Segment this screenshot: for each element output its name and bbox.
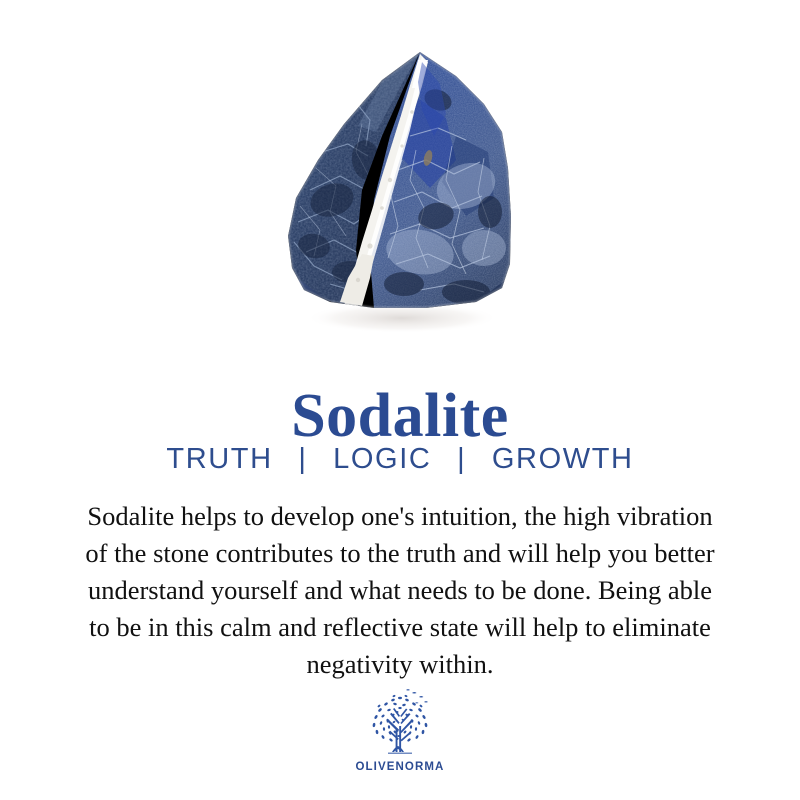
keyword-separator: | [441, 440, 482, 478]
crystal-image-area [0, 0, 800, 332]
description-line: to be in this calm and reflective state … [20, 609, 780, 646]
keyword-separator: | [282, 440, 323, 478]
sodalite-crystal-image [270, 40, 530, 332]
brand-logo: OLIVENORMA [0, 688, 800, 773]
keyword-truth: TRUTH [166, 443, 272, 475]
keyword-growth: GROWTH [492, 443, 634, 475]
keyword-list: TRUTH | LOGIC | GROWTH [0, 440, 800, 478]
product-info-card: Sodalite TRUTH | LOGIC | GROWTH Sodalite… [0, 0, 800, 800]
brand-name: OLIVENORMA [0, 761, 800, 773]
keyword-logic: LOGIC [333, 443, 431, 475]
product-description: Sodalite helps to develop one's intuitio… [20, 498, 780, 683]
description-line: negativity within. [20, 646, 780, 683]
tree-logo-icon [362, 688, 438, 760]
description-line: understand yourself and what needs to be… [20, 572, 780, 609]
description-line: of the stone contributes to the truth an… [20, 535, 780, 572]
description-line: Sodalite helps to develop one's intuitio… [20, 498, 780, 535]
